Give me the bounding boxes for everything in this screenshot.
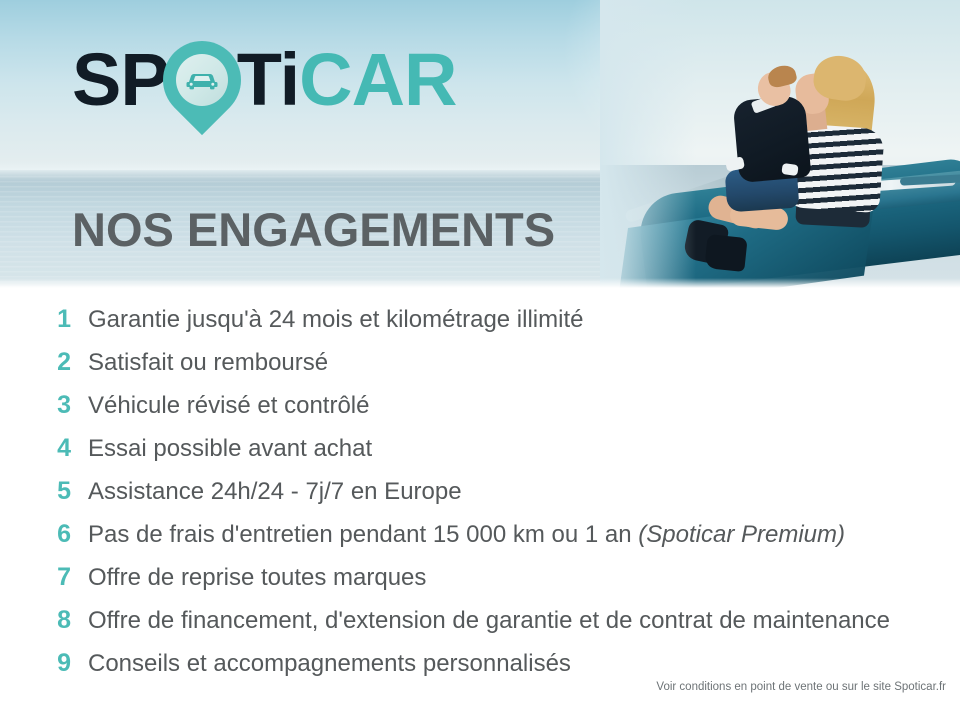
list-item-text-main: Pas de frais d'entretien pendant 15 000 …: [88, 521, 638, 548]
list-item-number: 9: [0, 649, 88, 678]
child-shirt: [733, 95, 812, 183]
logo-text-ti: Ti: [237, 43, 299, 117]
list-item: 7 Offre de reprise toutes marques: [0, 563, 960, 606]
list-item-text: Garantie jusqu'à 24 mois et kilométrage …: [88, 306, 583, 334]
list-item: 2 Satisfait ou remboursé: [0, 348, 960, 391]
list-item: 3 Véhicule révisé et contrôlé: [0, 391, 960, 434]
list-item-number: 5: [0, 477, 88, 506]
list-item: 8 Offre de financement, d'extension de g…: [0, 606, 960, 649]
list-item: 4 Essai possible avant achat: [0, 434, 960, 477]
list-item-text-main: Satisfait ou remboursé: [88, 349, 328, 376]
logo-text-car: CAR: [299, 43, 456, 117]
list-item-text: Assistance 24h/24 - 7j/7 en Europe: [88, 478, 462, 506]
list-item-text: Offre de financement, d'extension de gar…: [88, 607, 890, 635]
list-item-number: 3: [0, 391, 88, 420]
commitments-list: 1 Garantie jusqu'à 24 mois et kilométrag…: [0, 305, 960, 692]
list-item-number: 7: [0, 563, 88, 592]
page-title: NOS ENGAGEMENTS: [72, 206, 555, 253]
map-pin-car-icon: [163, 41, 241, 119]
list-item-number: 4: [0, 434, 88, 463]
banner-bottom-fade: [0, 278, 960, 288]
list-item-text: Satisfait ou remboursé: [88, 349, 328, 377]
list-item-text-main: Offre de financement, d'extension de gar…: [88, 607, 890, 634]
list-item-text-main: Conseils et accompagnements personnalisé…: [88, 650, 571, 677]
list-item-number: 8: [0, 606, 88, 635]
list-item-text-main: Véhicule révisé et contrôlé: [88, 392, 369, 419]
list-item-text: Pas de frais d'entretien pendant 15 000 …: [88, 521, 845, 549]
list-item-text-main: Essai possible avant achat: [88, 435, 372, 462]
logo-text-sp: SP: [72, 43, 169, 117]
hero-photo: [600, 0, 960, 288]
list-item-text-main: Assistance 24h/24 - 7j/7 en Europe: [88, 478, 462, 505]
list-item-text-main: Offre de reprise toutes marques: [88, 564, 426, 591]
list-item-text-main: Garantie jusqu'à 24 mois et kilométrage …: [88, 306, 583, 333]
list-item-text: Conseils et accompagnements personnalisé…: [88, 650, 571, 678]
list-item: 1 Garantie jusqu'à 24 mois et kilométrag…: [0, 305, 960, 348]
hero-banner: SP Ti CAR NOS ENGAGEMENTS: [0, 0, 960, 288]
list-item-text: Véhicule révisé et contrôlé: [88, 392, 369, 420]
list-item-number: 6: [0, 520, 88, 549]
list-item: 5 Assistance 24h/24 - 7j/7 en Europe: [0, 477, 960, 520]
photo-left-fade: [600, 0, 696, 288]
list-item-number: 1: [0, 305, 88, 334]
spoticar-logo: SP Ti CAR: [72, 40, 456, 120]
list-item-text: Offre de reprise toutes marques: [88, 564, 426, 592]
child-boot-back: [704, 234, 747, 272]
legal-footnote: Voir conditions en point de vente ou sur…: [656, 681, 946, 693]
list-item-number: 2: [0, 348, 88, 377]
list-item: 6 Pas de frais d'entretien pendant 15 00…: [0, 520, 960, 563]
child-cuff-right: [781, 163, 798, 176]
list-item-text: Essai possible avant achat: [88, 435, 372, 463]
list-item-text-emphasis: (Spoticar Premium): [638, 521, 845, 548]
car-glyph: [176, 54, 228, 106]
